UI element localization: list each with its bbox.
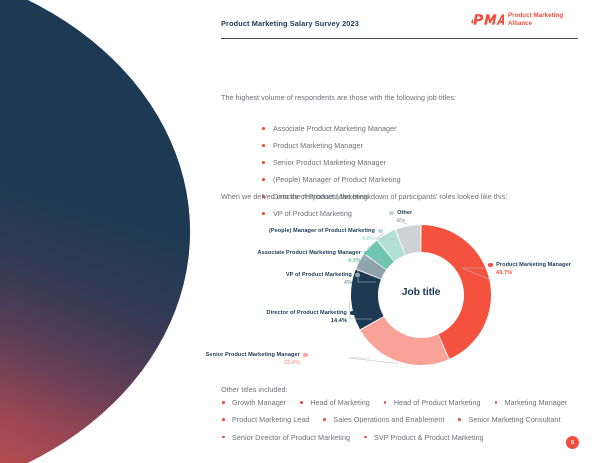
page-number-badge: 6	[566, 436, 579, 449]
chart-label-product-marketing-manager: Product Marketing Manager 43.7%	[488, 262, 571, 276]
intro-paragraph: The highest volume of respondents are th…	[221, 93, 456, 102]
other-titles-heading: Other titles included:	[221, 385, 288, 394]
list-item: Sales Operations and Enablement	[322, 415, 444, 424]
donut-chart: Job title Product Marketing Manager 43.7…	[200, 206, 600, 384]
list-item: Product Marketing Lead	[221, 415, 309, 424]
legend-swatch	[303, 353, 308, 358]
slide: Global Results Who took part Product Mar…	[0, 0, 600, 463]
list-item: Marketing Manager	[494, 398, 568, 407]
legend-swatch	[389, 211, 394, 216]
legend-swatch	[364, 251, 369, 256]
logo-line-1: Product Marketing	[508, 12, 563, 20]
pma-logo-icon	[470, 12, 504, 27]
document-title: Product Marketing Salary Survey 2023	[221, 19, 359, 28]
donut-center-label: Job title	[376, 286, 466, 298]
list-item: Senior Director of Product Marketing	[221, 433, 350, 442]
list-item: Senior Product Marketing Manager	[261, 158, 600, 167]
logo-line-2: Alliance	[508, 20, 563, 28]
eyebrow-global-results: Global Results	[183, 59, 237, 68]
list-item: Product Marketing Manager	[261, 141, 600, 150]
other-titles-row: Product Marketing Lead Sales Operations …	[221, 415, 591, 424]
list-item: Growth Manager	[221, 398, 286, 407]
eyebrow-divider	[183, 78, 287, 79]
list-item: Associate Product Marketing Manager	[261, 124, 600, 133]
chart-label-people-manager-of-product-marketing: (People) Manager of Product Marketing 4.…	[269, 228, 383, 242]
chart-label-other: Other 6%	[389, 210, 412, 224]
breakdown-paragraph: When we delved into the responses, the b…	[221, 192, 507, 201]
chart-label-associate-product-marketing-manager: Associate Product Marketing Manager 4.3%	[258, 250, 370, 264]
chart-label-director-of-product-marketing: Director of Product Marketing 14.4%	[267, 310, 356, 324]
legend-swatch	[350, 311, 355, 316]
legend-swatch	[488, 263, 493, 268]
other-titles-list: Growth Manager Head of Marketing Head of…	[221, 398, 591, 450]
list-item: Senior Marketing Consultant	[457, 415, 560, 424]
pma-logo: Product Marketing Alliance	[470, 12, 563, 28]
list-item: (People) Manager of Product Marketing	[261, 175, 600, 184]
chart-label-vp-of-product-marketing: VP of Product Marketing 4%	[286, 272, 360, 286]
other-titles-row: Senior Director of Product Marketing SVP…	[221, 433, 591, 442]
list-item: Head of Product Marketing	[383, 398, 481, 407]
donut-segment	[361, 317, 449, 365]
leader-line	[348, 358, 398, 363]
header-divider	[221, 38, 578, 39]
list-item: Head of Marketing	[299, 398, 370, 407]
chart-label-senior-product-marketing-manager: Senior Product Marketing Manager 23.4%	[206, 352, 308, 366]
legend-swatch	[355, 273, 360, 278]
list-item: SVP Product & Product Marketing	[363, 433, 484, 442]
other-titles-row: Growth Manager Head of Marketing Head of…	[221, 398, 591, 407]
legend-swatch	[378, 229, 383, 234]
logo-wordmark: Product Marketing Alliance	[508, 12, 563, 28]
